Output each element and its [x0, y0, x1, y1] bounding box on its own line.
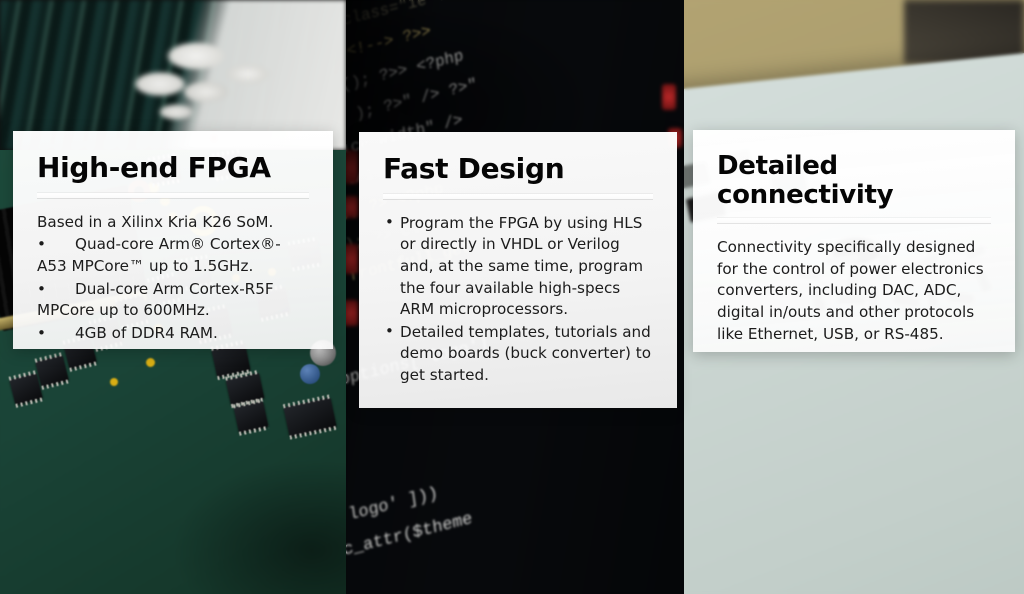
card-high-end-fpga: High-end FPGA Based in a Xilinx Kria K26…: [13, 131, 333, 349]
list-item: Detailed templates, tutorials and demo b…: [383, 322, 653, 387]
bullet-icon: [37, 234, 75, 256]
card-body: Program the FPGA by using HLS or directl…: [383, 213, 653, 387]
pcb-connector-photo: [0, 0, 346, 150]
card-body: Based in a Xilinx Kria K26 SoM. Quad-cor…: [37, 212, 309, 344]
card-lead-text: Connectivity specifically designed for t…: [717, 237, 991, 345]
list-item: Dual-core Arm Cortex-R5F MPCore up to 60…: [37, 279, 309, 322]
slide-stage: <?php wp_head(); ?> <div class="wrap"> <…: [0, 0, 1024, 594]
list-item: Program the FPGA by using HLS or directl…: [383, 213, 653, 321]
bullet-icon: [37, 279, 75, 301]
title-divider: [717, 218, 991, 223]
title-divider: [383, 194, 653, 199]
list-item: Quad-core Arm® Cortex®-A53 MPCore™ up to…: [37, 234, 309, 277]
card-lead-text: Based in a Xilinx Kria K26 SoM.: [37, 212, 309, 234]
list-item-label: 4GB of DDR4 RAM.: [75, 324, 218, 342]
card-fast-design: Fast Design Program the FPGA by using HL…: [359, 132, 677, 408]
card-body: Connectivity specifically designed for t…: [717, 237, 991, 345]
card-title: Fast Design: [383, 154, 653, 185]
card-bullet-list: Program the FPGA by using HLS or directl…: [383, 213, 653, 387]
card-title: Detailed connectivity: [717, 152, 991, 209]
list-item: 4GB of DDR4 RAM.: [37, 323, 309, 345]
card-detailed-connectivity: Detailed connectivity Connectivity speci…: [693, 130, 1015, 352]
card-bullet-list: Quad-core Arm® Cortex®-A53 MPCore™ up to…: [37, 234, 309, 344]
bullet-icon: [37, 323, 75, 345]
card-title: High-end FPGA: [37, 153, 309, 184]
title-divider: [37, 193, 309, 198]
